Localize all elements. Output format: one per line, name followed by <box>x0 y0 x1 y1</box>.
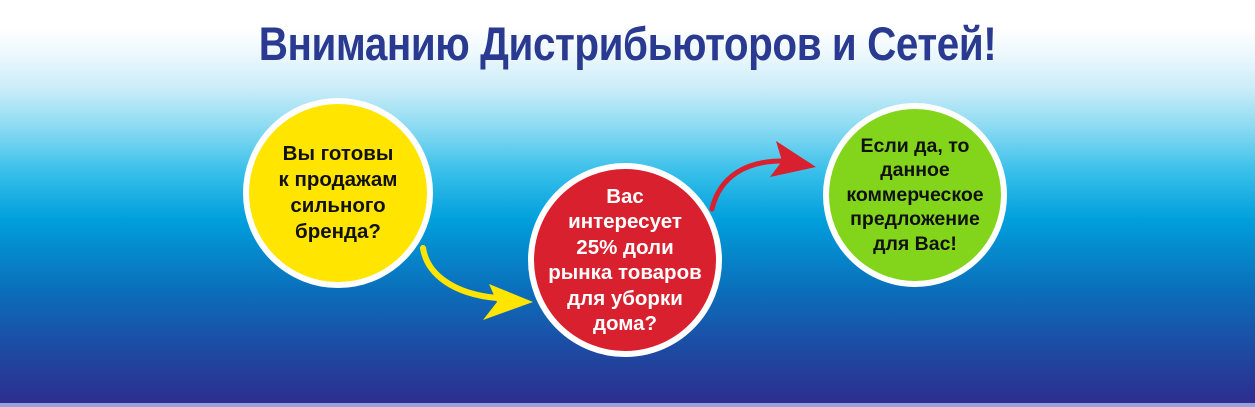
step-circle-label: Вы готовы к продажам сильного бренда? <box>254 141 421 245</box>
step-circle-offer-conclusion: Если да, то данное коммерческое предложе… <box>823 103 1007 287</box>
step-circle-question-market-share: Вас интересует 25% доли рынка товаров дл… <box>528 163 722 357</box>
bottom-divider <box>0 403 1255 407</box>
step-circle-label: Вас интересует 25% доли рынка товаров дл… <box>539 184 710 337</box>
arrow-red-to-green-icon <box>690 135 840 215</box>
arrow-yellow-to-red-icon <box>405 240 545 320</box>
promo-banner: Вниманию Дистрибьюторов и Сетей! Вы гото… <box>0 0 1255 407</box>
page-title: Вниманию Дистрибьюторов и Сетей! <box>88 18 1167 70</box>
step-circle-label: Если да, то данное коммерческое предложе… <box>834 134 996 257</box>
step-circle-question-brand: Вы готовы к продажам сильного бренда? <box>243 98 433 288</box>
